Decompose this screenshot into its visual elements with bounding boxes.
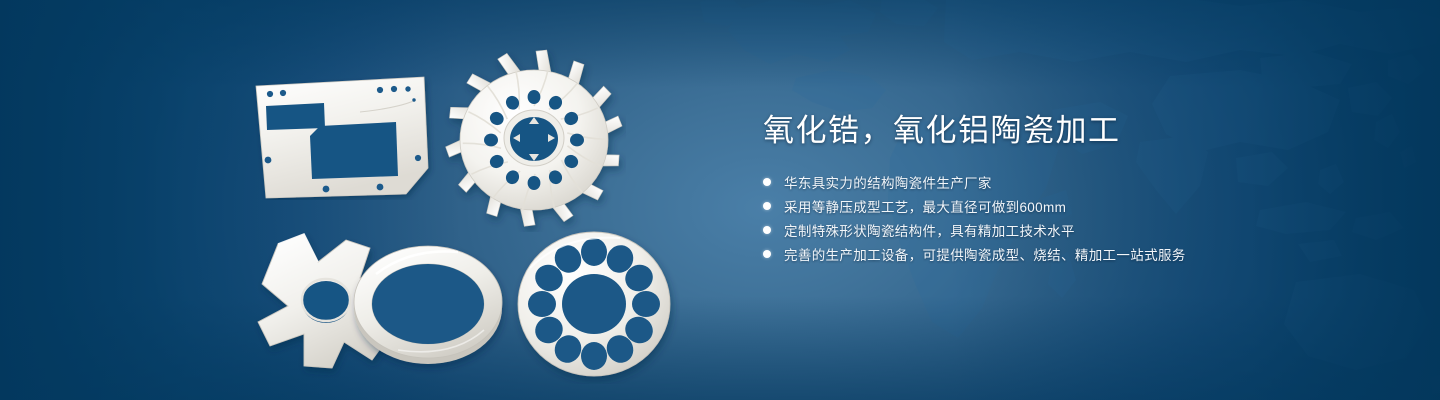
ceramic-plate-image xyxy=(248,72,438,200)
feature-text: 定制特殊形状陶瓷结构件，具有精加工技术水平 xyxy=(784,220,1075,240)
list-item: 完善的生产加工设备，可提供陶瓷成型、烧结、精加工一站式服务 xyxy=(763,244,1383,265)
list-item: 采用等静压成型工艺，最大直径可做到600mm xyxy=(763,196,1383,217)
bullet-dot-icon xyxy=(763,226,771,234)
ceramic-ring-image xyxy=(332,222,522,382)
feature-list: 华东具实力的结构陶瓷件生产厂家 采用等静压成型工艺，最大直径可做到600mm 定… xyxy=(763,172,1383,265)
bullet-dot-icon xyxy=(763,202,771,210)
hero-banner: 氧化锆，氧化铝陶瓷加工 华东具实力的结构陶瓷件生产厂家 采用等静压成型工艺，最大… xyxy=(0,0,1440,400)
feature-text: 采用等静压成型工艺，最大直径可做到600mm xyxy=(784,196,1066,216)
bullet-dot-icon xyxy=(763,178,771,186)
list-item: 定制特殊形状陶瓷结构件，具有精加工技术水平 xyxy=(763,220,1383,241)
bullet-dot-icon xyxy=(763,250,771,258)
ceramic-perforated-disc-image xyxy=(508,224,680,384)
feature-text: 华东具实力的结构陶瓷件生产厂家 xyxy=(784,172,992,192)
feature-text: 完善的生产加工设备，可提供陶瓷成型、烧结、精加工一站式服务 xyxy=(784,244,1186,264)
ceramic-impeller-image xyxy=(442,48,626,232)
banner-text-block: 氧化锆，氧化铝陶瓷加工 华东具实力的结构陶瓷件生产厂家 采用等静压成型工艺，最大… xyxy=(763,112,1383,268)
list-item: 华东具实力的结构陶瓷件生产厂家 xyxy=(763,172,1383,193)
banner-headline: 氧化锆，氧化铝陶瓷加工 xyxy=(763,112,1383,150)
